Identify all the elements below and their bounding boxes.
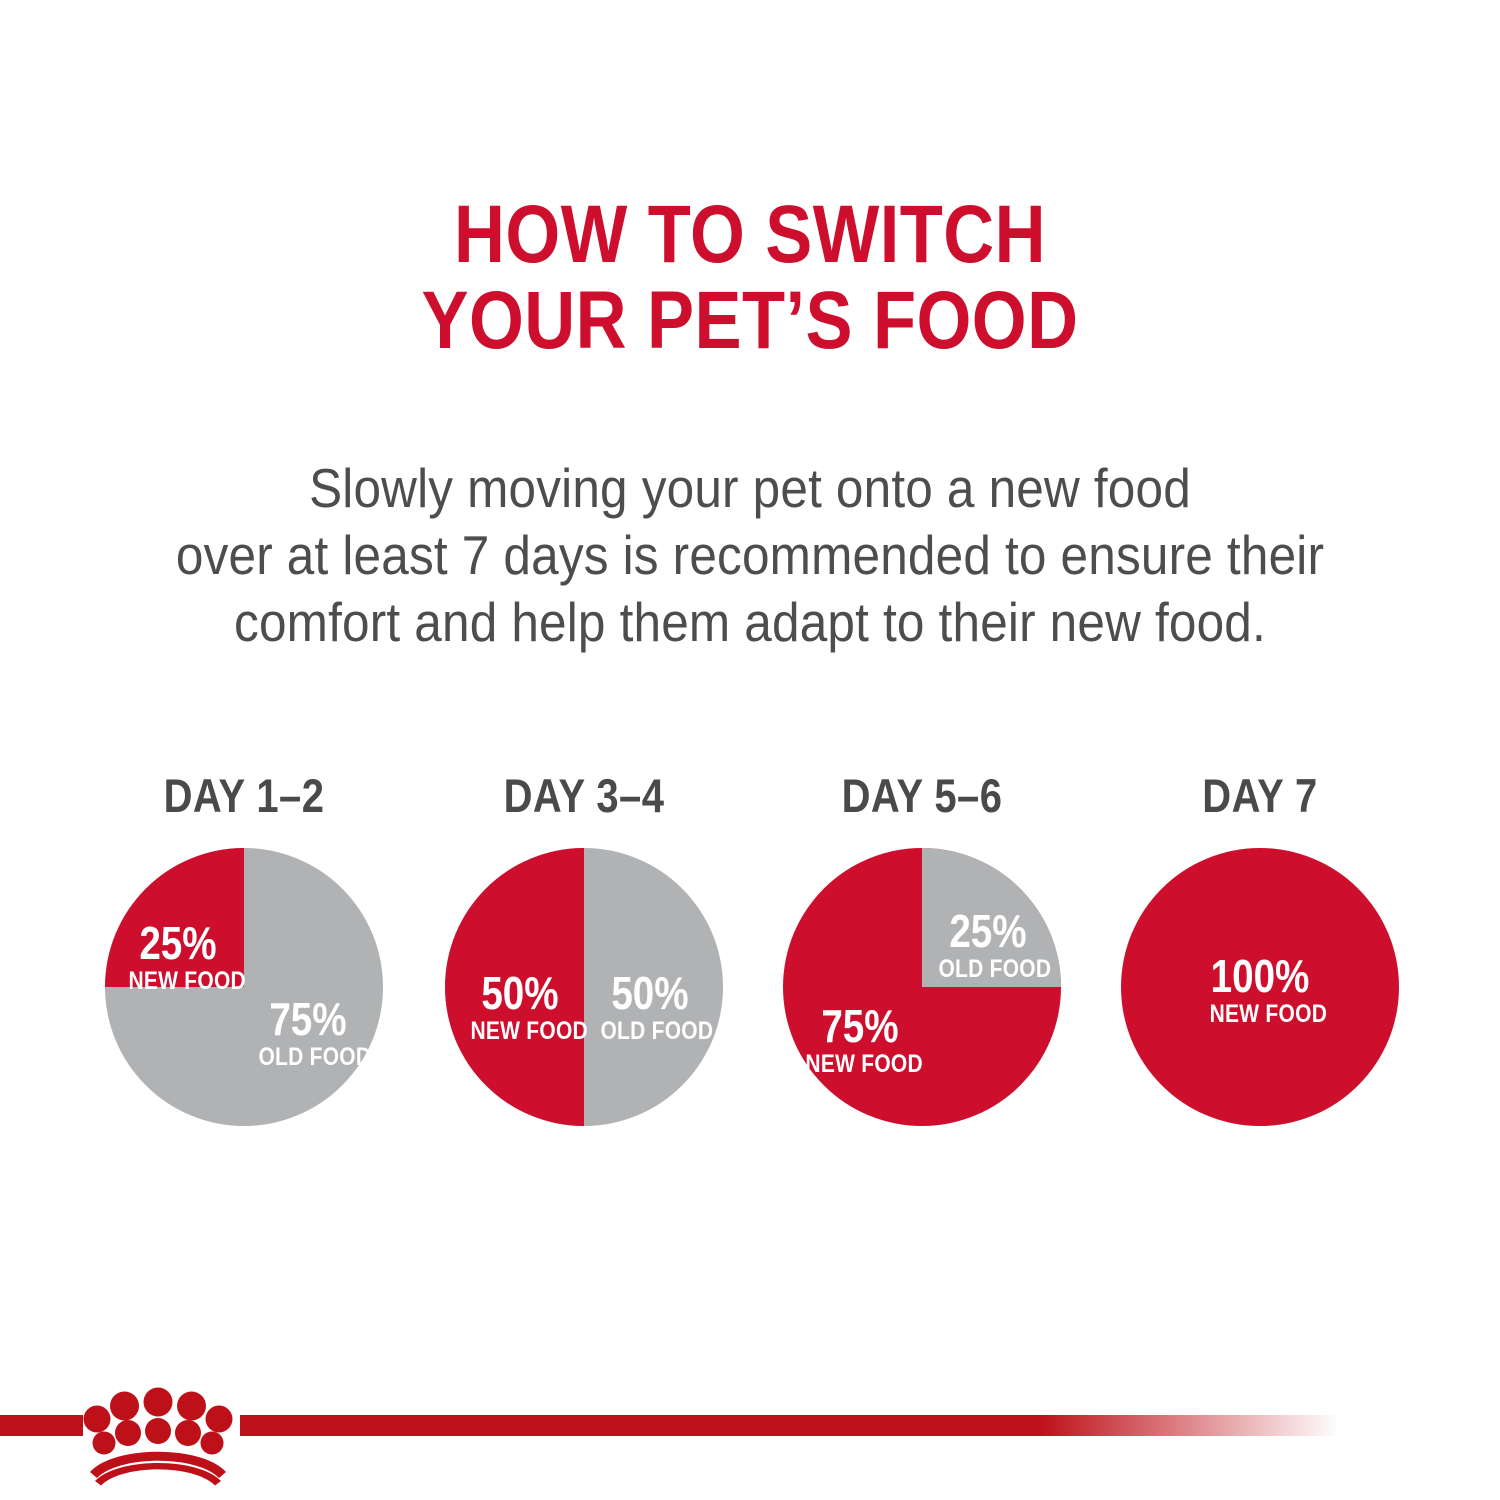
pie-group-day-7: DAY 7 100% NEW FOOD [1090, 760, 1430, 1160]
pie-svg-2 [445, 848, 723, 1126]
day-label-2: DAY 3–4 [440, 768, 729, 823]
day-label-4: DAY 7 [1116, 768, 1405, 823]
intro-line-3: comfort and help them adapt to their new… [75, 589, 1425, 656]
pie-chart-day-5-6: 25% OLD FOOD 75% NEW FOOD [783, 848, 1061, 1126]
page-title: HOW TO SWITCH YOUR PET’S FOOD [0, 192, 1500, 364]
pie-svg-3 [783, 848, 1061, 1126]
royal-canin-crown-icon [78, 1386, 238, 1486]
pie-chart-row: DAY 1–2 25% NEW FOOD 75% OLD FOOD DAY 3–… [0, 760, 1500, 1160]
day-label-1: DAY 1–2 [100, 768, 389, 823]
footer-rule-right [240, 1415, 1350, 1436]
pie-chart-day-1-2: 25% NEW FOOD 75% OLD FOOD [105, 848, 383, 1126]
intro-line-2: over at least 7 days is recommended to e… [75, 522, 1425, 589]
pie-group-day-5-6: DAY 5–6 25% OLD FOOD 75% NEW FOOD [752, 760, 1092, 1160]
pie-slice-new-food-4 [1121, 848, 1399, 1126]
pie-group-day-3-4: DAY 3–4 50% NEW FOOD 50% OLD FOOD [414, 760, 754, 1160]
page-title-line-1: HOW TO SWITCH [105, 192, 1395, 278]
pie-group-day-1-2: DAY 1–2 25% NEW FOOD 75% OLD FOOD [74, 760, 414, 1160]
pie-chart-day-7: 100% NEW FOOD [1121, 848, 1399, 1126]
pie-chart-day-3-4: 50% NEW FOOD 50% OLD FOOD [445, 848, 723, 1126]
day-label-3: DAY 5–6 [778, 768, 1067, 823]
crown-logo-svg [78, 1386, 238, 1486]
pie-slice-new-food-2 [445, 848, 584, 1126]
pie-slice-new-food-1 [105, 848, 244, 987]
footer-rule-left [0, 1415, 83, 1436]
pie-slice-old-food-3 [922, 848, 1061, 987]
intro-paragraph: Slowly moving your pet onto a new food o… [0, 455, 1500, 656]
pie-svg-1 [105, 848, 383, 1126]
page-title-line-2: YOUR PET’S FOOD [105, 278, 1395, 364]
intro-line-1: Slowly moving your pet onto a new food [75, 455, 1425, 522]
pie-svg-4 [1121, 848, 1399, 1126]
footer-brand-bar [0, 1400, 1500, 1500]
